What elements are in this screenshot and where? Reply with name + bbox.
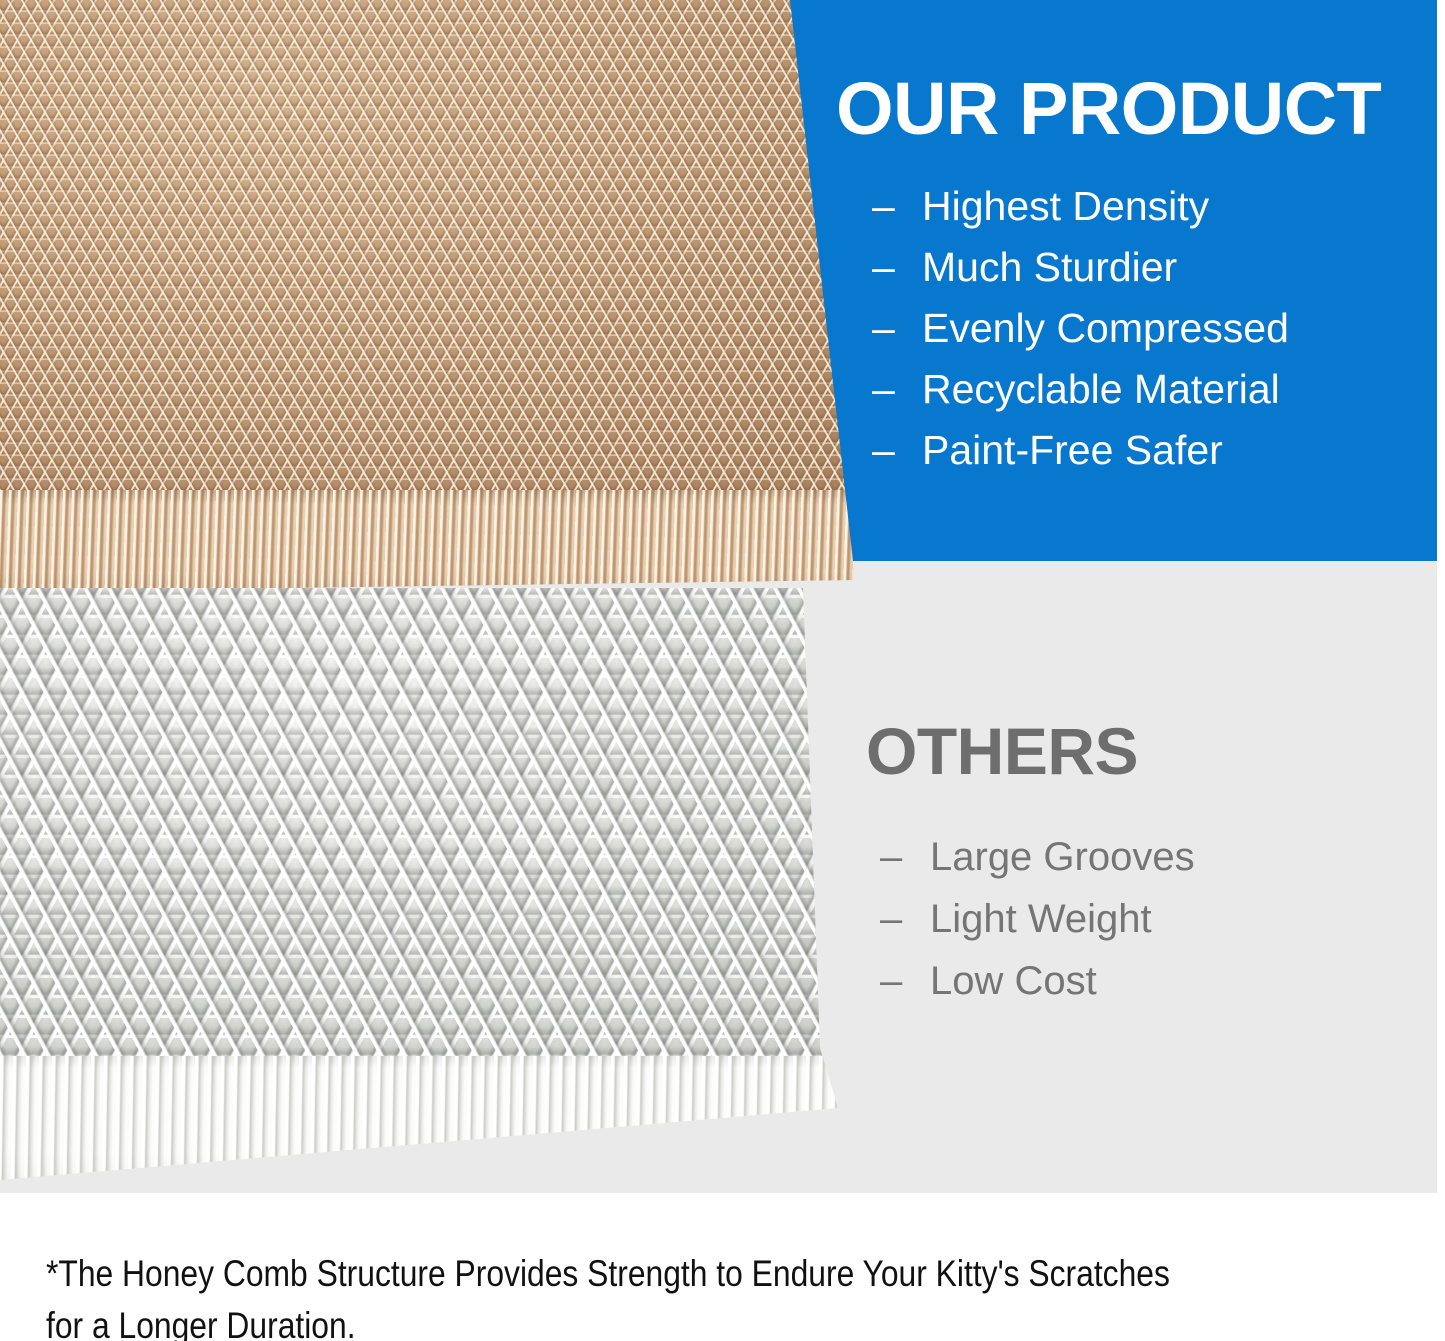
- list-item: – Paint-Free Safer: [872, 420, 1436, 481]
- others-product-honeycomb-surface: [0, 588, 900, 1058]
- our-product-feature-list: – Highest Density – Much Sturdier – Even…: [872, 176, 1436, 481]
- others-feature-label: Light Weight: [930, 888, 1152, 950]
- dash-bullet-icon: –: [872, 237, 922, 298]
- others-feature-list: – Large Grooves – Light Weight – Low Cos…: [880, 826, 1426, 1012]
- list-item: – Recyclable Material: [872, 359, 1436, 420]
- dash-bullet-icon: –: [880, 950, 930, 1012]
- footnote-text: *The Honey Comb Structure Provides Stren…: [46, 1248, 1181, 1341]
- dash-bullet-icon: –: [880, 826, 930, 888]
- our-product-side-edge: [0, 490, 866, 592]
- others-feature-label: Large Grooves: [930, 826, 1195, 888]
- dash-bullet-icon: –: [872, 298, 922, 359]
- list-item: – Highest Density: [872, 176, 1436, 237]
- list-item: – Light Weight: [880, 888, 1426, 950]
- dash-bullet-icon: –: [872, 420, 922, 481]
- dash-bullet-icon: –: [872, 176, 922, 237]
- our-product-heading: OUR PRODUCT: [836, 72, 1436, 146]
- list-item: – Evenly Compressed: [872, 298, 1436, 359]
- list-item: – Large Grooves: [880, 826, 1426, 888]
- others-section: OTHERS – Large Grooves – Light Weight – …: [866, 718, 1426, 1012]
- our-product-section: OUR PRODUCT – Highest Density – Much Stu…: [836, 72, 1436, 481]
- our-product-feature-label: Recyclable Material: [922, 359, 1280, 420]
- our-product-feature-label: Paint-Free Safer: [922, 420, 1223, 481]
- list-item: – Low Cost: [880, 950, 1426, 1012]
- others-heading: OTHERS: [866, 718, 1426, 784]
- our-product-feature-label: Highest Density: [922, 176, 1209, 237]
- others-product-photo: [0, 588, 900, 1180]
- dash-bullet-icon: –: [880, 888, 930, 950]
- our-product-honeycomb-surface: [0, 0, 866, 492]
- our-product-feature-label: Much Sturdier: [922, 237, 1177, 298]
- our-product-feature-label: Evenly Compressed: [922, 298, 1289, 359]
- infographic-canvas: OUR PRODUCT – Highest Density – Much Stu…: [0, 0, 1445, 1341]
- dash-bullet-icon: –: [872, 359, 922, 420]
- others-feature-label: Low Cost: [930, 950, 1097, 1012]
- our-product-photo: [0, 0, 866, 592]
- list-item: – Much Sturdier: [872, 237, 1436, 298]
